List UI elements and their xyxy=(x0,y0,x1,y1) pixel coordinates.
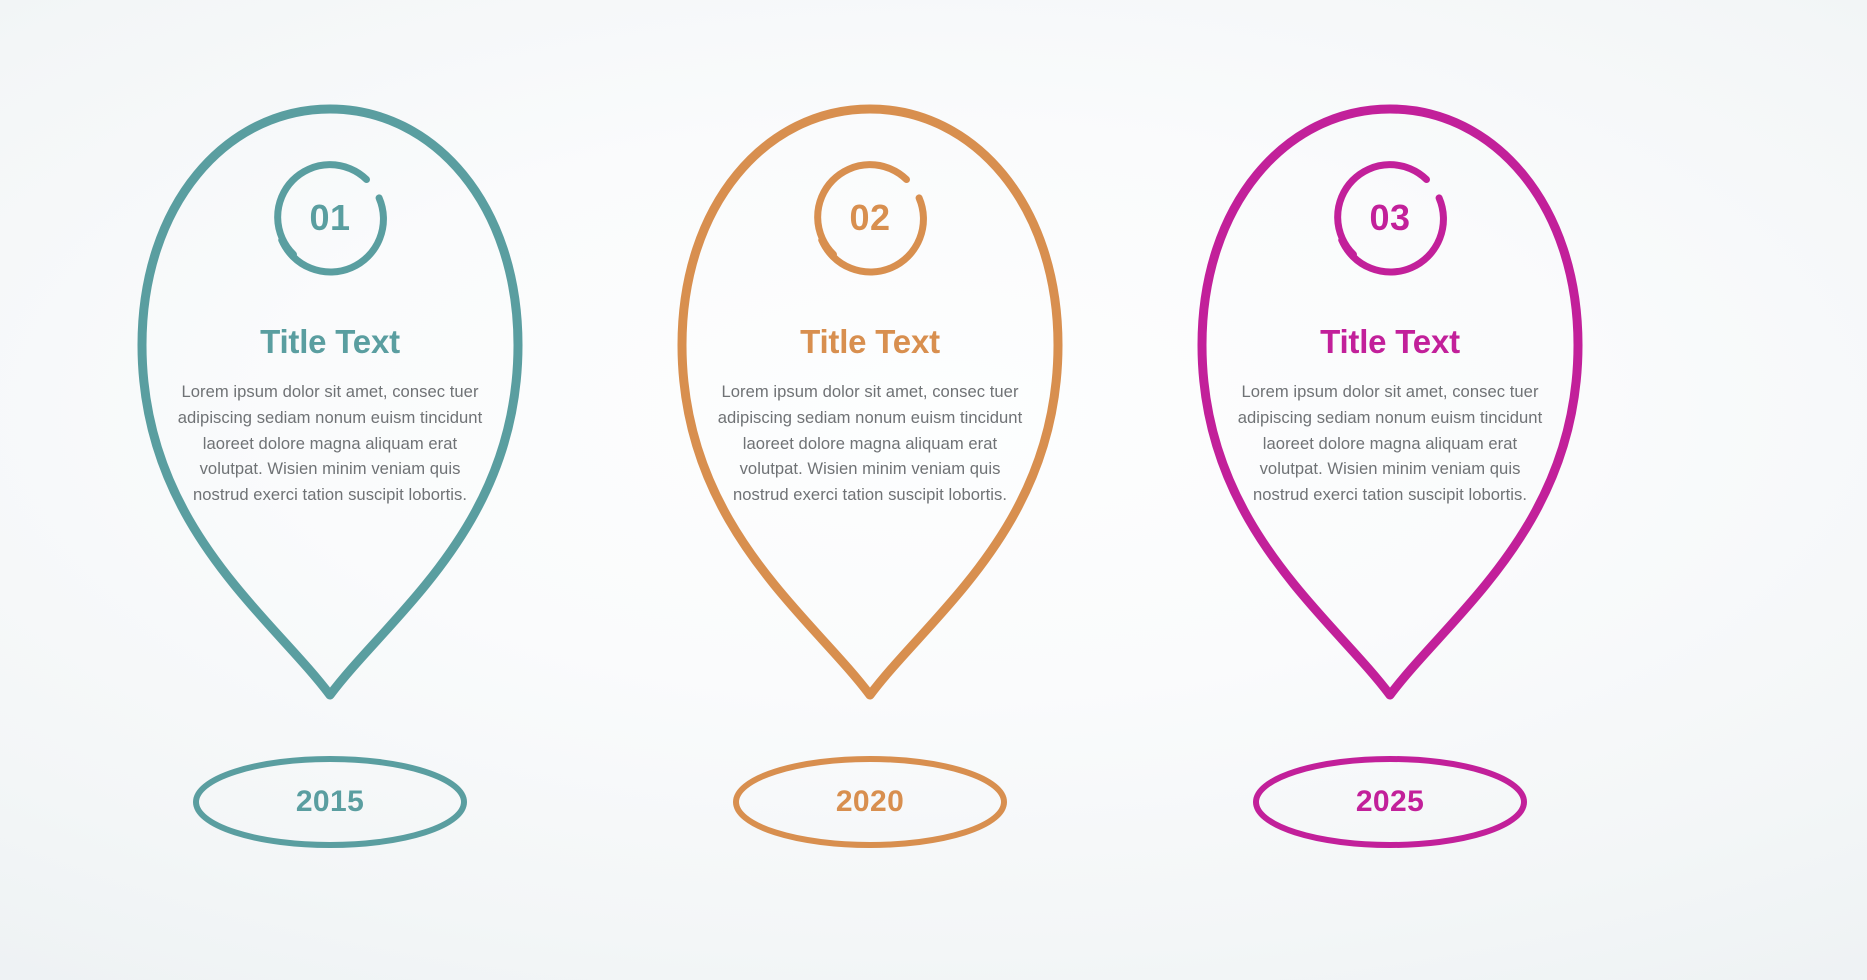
number-badge-3: 03 xyxy=(1322,150,1458,286)
number-badge-1: 01 xyxy=(262,150,398,286)
step-body-3: Lorem ipsum dolor sit amet, consec tuer … xyxy=(1225,379,1555,507)
step-card-1[interactable]: 01 Title Text Lorem ipsum dolor sit amet… xyxy=(70,0,590,980)
step-card-3[interactable]: 03 Title Text Lorem ipsum dolor sit amet… xyxy=(1130,0,1650,980)
step-card-2[interactable]: 02 Title Text Lorem ipsum dolor sit amet… xyxy=(610,0,1130,980)
step-content-2: 02 Title Text Lorem ipsum dolor sit amet… xyxy=(705,150,1035,507)
year-label-3: 2025 xyxy=(1249,752,1531,852)
year-badge-2[interactable]: 2020 xyxy=(729,752,1011,852)
step-title-3: Title Text xyxy=(1225,324,1555,360)
number-badge-2: 02 xyxy=(802,150,938,286)
year-label-1: 2015 xyxy=(189,752,471,852)
step-content-3: 03 Title Text Lorem ipsum dolor sit amet… xyxy=(1225,150,1555,507)
year-badge-3[interactable]: 2025 xyxy=(1249,752,1531,852)
step-body-2: Lorem ipsum dolor sit amet, consec tuer … xyxy=(705,379,1035,507)
step-title-1: Title Text xyxy=(165,324,495,360)
step-body-1: Lorem ipsum dolor sit amet, consec tuer … xyxy=(165,379,495,507)
step-content-1: 01 Title Text Lorem ipsum dolor sit amet… xyxy=(165,150,495,507)
step-number-1: 01 xyxy=(262,150,398,286)
year-label-2: 2020 xyxy=(729,752,1011,852)
year-badge-1[interactable]: 2015 xyxy=(189,752,471,852)
step-number-2: 02 xyxy=(802,150,938,286)
step-number-3: 03 xyxy=(1322,150,1458,286)
step-title-2: Title Text xyxy=(705,324,1035,360)
infographic-canvas: 01 Title Text Lorem ipsum dolor sit amet… xyxy=(0,0,1867,980)
